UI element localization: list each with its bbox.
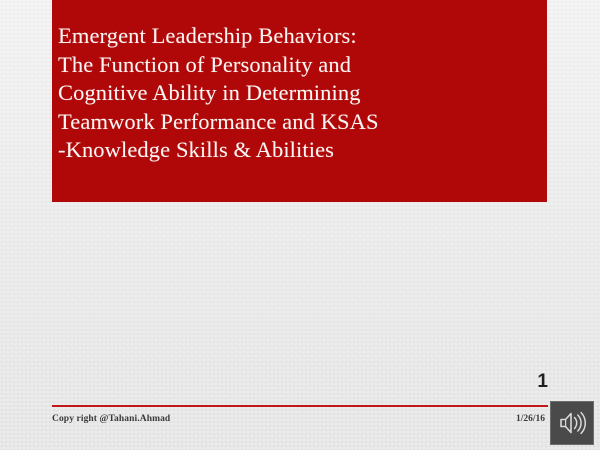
audio-playback-button[interactable] xyxy=(550,401,594,445)
footer-divider xyxy=(52,405,548,407)
title-block: Emergent Leadership Behaviors: The Funct… xyxy=(52,0,547,202)
page-title: Emergent Leadership Behaviors: The Funct… xyxy=(58,22,531,165)
speaker-sound-icon xyxy=(557,410,587,436)
footer-date: 1/26/16 xyxy=(516,414,545,424)
page-number: 1 xyxy=(537,371,548,393)
slide-canvas: Emergent Leadership Behaviors: The Funct… xyxy=(0,0,600,450)
footer-copyright: Copy right @Tahani.Ahmad xyxy=(52,414,170,424)
